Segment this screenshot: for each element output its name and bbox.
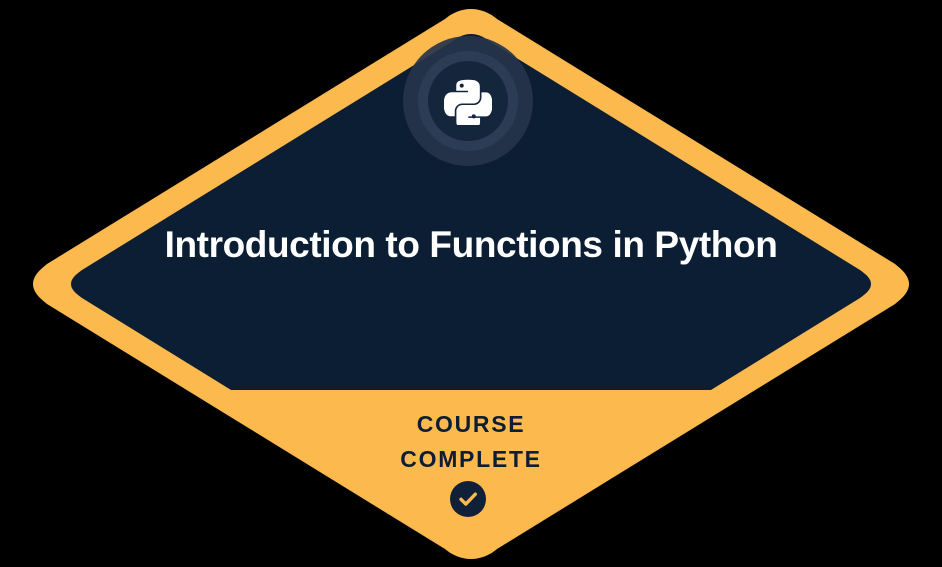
status-label-complete: COMPLETE (221, 442, 721, 477)
check-circle-icon (450, 481, 486, 517)
completion-status: COURSE COMPLETE (221, 407, 721, 477)
checkmark-glyph-icon (450, 481, 486, 517)
badge-canvas: Introduction to Functions in Python COUR… (0, 0, 942, 567)
python-logo-medallion (403, 36, 533, 166)
status-label-course: COURSE (221, 407, 721, 442)
python-logo-icon (444, 77, 492, 125)
course-title: Introduction to Functions in Python (141, 222, 801, 268)
